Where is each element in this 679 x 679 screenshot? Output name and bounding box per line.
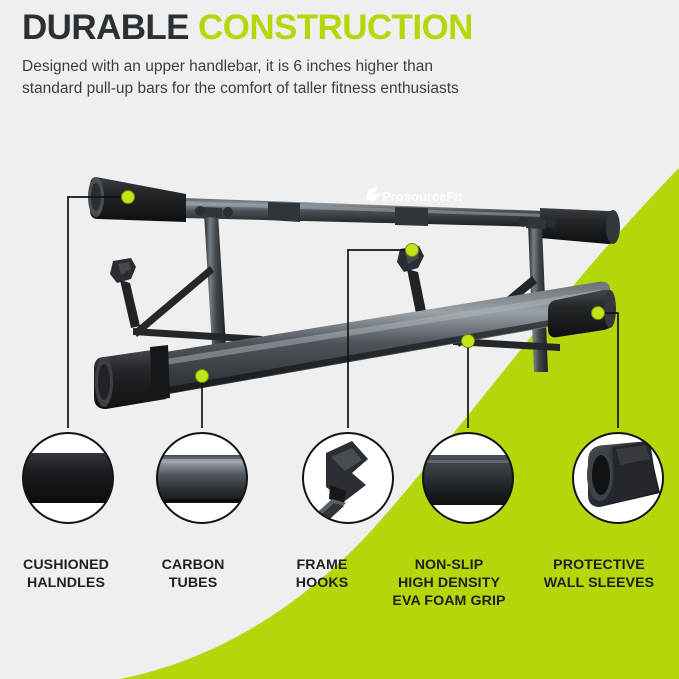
feature-label-frame-hooks: FRAME HOOKS: [268, 556, 376, 592]
detail-circle-wall-sleeves: [573, 433, 663, 523]
feature-labels-row: CUSHIONED HALNDLES CARBON TUBES FRAME HO…: [0, 556, 679, 636]
feature-label-line2: TUBES: [169, 575, 218, 591]
feature-label-line2: WALL SLEEVES: [544, 575, 655, 591]
feature-label-line2: HOOKS: [296, 575, 349, 591]
wall-sleeve-left: [94, 345, 170, 409]
feature-label-carbon-tubes: CARBON TUBES: [133, 556, 253, 592]
feature-label-line1: NON-SLIP: [415, 557, 484, 573]
feature-label-line1: PROTECTIVE: [553, 557, 645, 573]
feature-label-line2: HALNDLES: [27, 575, 105, 591]
detail-circles-row: [0, 415, 679, 540]
cushioned-handle-left: [88, 177, 186, 222]
page-subtitle: Designed with an upper handlebar, it is …: [22, 56, 492, 100]
upper-handlebar-group: [183, 198, 545, 227]
brand-logo-text: ProsourceFit: [382, 189, 463, 204]
feature-label-line3: EVA FOAM GRIP: [392, 593, 505, 609]
support-post-left: [133, 206, 262, 346]
detail-circle-carbon-tubes: [150, 433, 260, 523]
product-illustration-pullup-bar: ProsourceFit: [0, 150, 679, 440]
feature-label-eva-foam-grip: NON-SLIP HIGH DENSITY EVA FOAM GRIP: [370, 556, 528, 611]
header-block: DURABLE CONSTRUCTION Designed with an up…: [22, 10, 662, 100]
feature-label-line1: FRAME: [297, 557, 348, 573]
detail-circle-eva-foam-grip: [416, 433, 526, 523]
brand-logo: ProsourceFit: [366, 186, 463, 204]
frame-hook-left: [110, 258, 140, 328]
page-title: DURABLE CONSTRUCTION: [22, 10, 662, 47]
feature-label-line1: CARBON: [162, 557, 225, 573]
feature-label-line2: HIGH DENSITY: [398, 575, 500, 591]
detail-circle-frame-hooks: [303, 433, 393, 528]
title-green-part: CONSTRUCTION: [198, 8, 473, 47]
feature-label-wall-sleeves: PROTECTIVE WALL SLEEVES: [520, 556, 678, 592]
title-dark-part: DURABLE: [22, 8, 189, 47]
detail-circle-cushioned-handles: [15, 433, 125, 523]
infographic-canvas: DURABLE CONSTRUCTION Designed with an up…: [0, 0, 679, 679]
feature-label-cushioned-handles: CUSHIONED HALNDLES: [2, 556, 130, 592]
feature-label-line1: CUSHIONED: [23, 557, 109, 573]
